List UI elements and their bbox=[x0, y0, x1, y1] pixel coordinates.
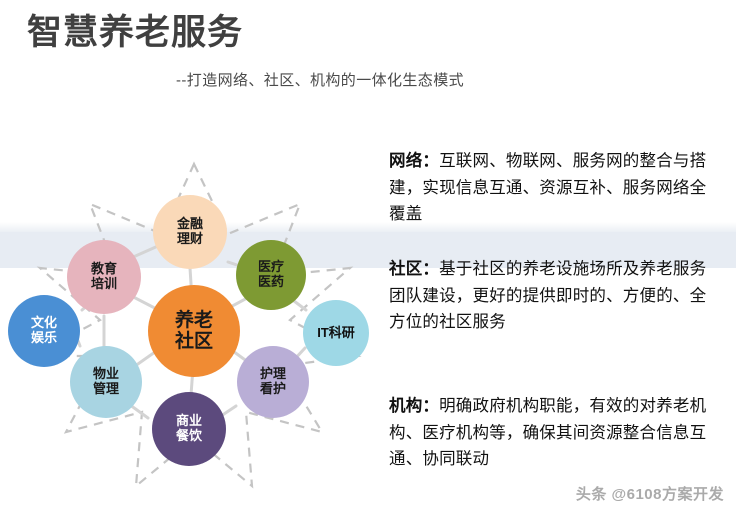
diagram-node-elderly-community[interactable]: 养老 社区 bbox=[148, 285, 240, 377]
diagram-node-finance[interactable]: 金融 理财 bbox=[153, 195, 227, 269]
page-subtitle: --打造网络、社区、机构的一体化生态模式 bbox=[176, 69, 464, 90]
node-label-line1: 医疗 bbox=[258, 260, 284, 275]
node-label-line1: 护理 bbox=[260, 367, 286, 382]
node-label-line2: 娱乐 bbox=[31, 331, 57, 346]
node-label-line1: 金融 bbox=[177, 217, 203, 232]
paragraph-organization-label: 机构： bbox=[389, 397, 439, 415]
ecosystem-diagram: 养老 社区 金融 理财 医疗 医药 IT科研 护理 看护 商业 餐饮 物业 管理… bbox=[0, 150, 390, 500]
paragraph-network-label: 网络： bbox=[389, 152, 439, 170]
paragraph-network: 网络：互联网、物联网、服务网的整合与搭建，实现信息互通、资源互补、服务网络全覆盖 bbox=[389, 148, 715, 228]
node-label-line2: 餐饮 bbox=[176, 429, 202, 444]
node-label-line2: 理财 bbox=[177, 232, 203, 247]
diagram-node-business-catering[interactable]: 商业 餐饮 bbox=[152, 392, 226, 466]
node-label-line1: 文化 bbox=[31, 316, 57, 331]
node-label-line2: 社区 bbox=[175, 331, 213, 352]
diagram-node-medical[interactable]: 医疗 医药 bbox=[236, 240, 306, 310]
paragraph-organization: 机构：明确政府机构职能，有效的对养老机构、医疗机构等，确保其间资源整合信息互通、… bbox=[389, 393, 715, 473]
node-label-line2: 医药 bbox=[258, 275, 284, 290]
watermark: 头条 @6108方案开发 bbox=[576, 483, 724, 504]
node-label-line2: 培训 bbox=[91, 277, 117, 292]
node-label-line1: IT科研 bbox=[317, 326, 355, 341]
paragraph-community: 社区：基于社区的养老设施场所及养老服务团队建设，更好的提供即时的、方便的、全方位… bbox=[389, 256, 715, 336]
node-label-line1: 教育 bbox=[91, 262, 117, 277]
node-label-line1: 物业 bbox=[93, 367, 119, 382]
diagram-node-property-management[interactable]: 物业 管理 bbox=[70, 346, 142, 418]
node-label-line2: 管理 bbox=[93, 382, 119, 397]
paragraph-community-label: 社区： bbox=[389, 260, 439, 278]
diagram-node-nursing[interactable]: 护理 看护 bbox=[237, 346, 309, 418]
node-label-line2: 看护 bbox=[260, 382, 286, 397]
diagram-node-education-training[interactable]: 教育 培训 bbox=[67, 240, 141, 314]
node-label-line1: 养老 bbox=[175, 310, 213, 331]
page-title: 智慧养老服务 bbox=[27, 4, 243, 55]
diagram-node-it-research[interactable]: IT科研 bbox=[303, 300, 369, 366]
diagram-node-culture-entertainment[interactable]: 文化 娱乐 bbox=[8, 295, 80, 367]
node-label-line1: 商业 bbox=[176, 414, 202, 429]
